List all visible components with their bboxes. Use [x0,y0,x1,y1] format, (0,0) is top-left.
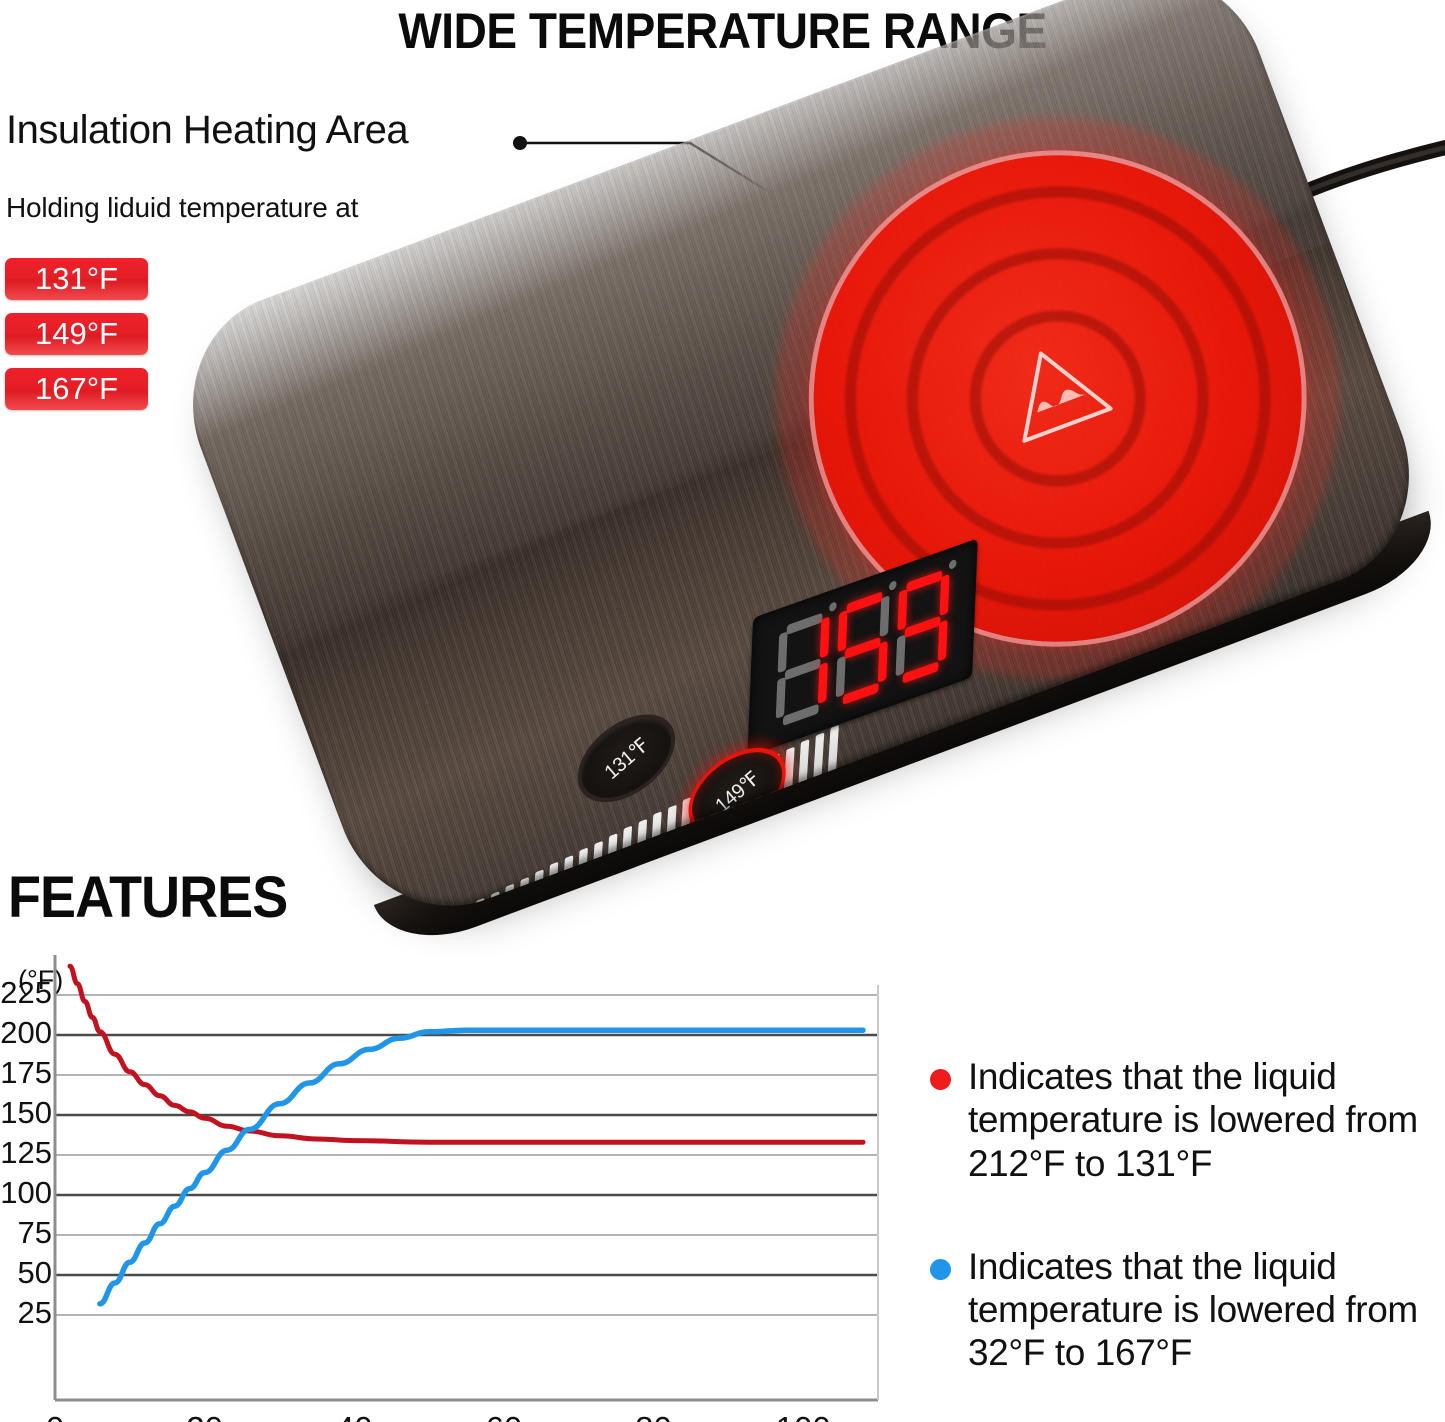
y-axis-tick-label: 175 [0,1055,52,1091]
legend-text-red: Indicates that the liquid temperature is… [968,1055,1430,1185]
product-image: 149 131℉ 149℉ 167℉ [0,60,1445,970]
features-heading: FEATURES [8,864,287,931]
y-axis-tick-label: 75 [0,1215,52,1251]
y-axis-tick-label: 225 [0,975,52,1011]
temperature-curve-chart: (°F) 255075100125150175200225 0204060801… [0,955,900,1422]
legend-item-red: Indicates that the liquid temperature is… [930,1055,1430,1185]
product-infographic: WIDE TEMPERATURE RANGE Insulation Heatin… [0,0,1445,1422]
y-axis-tick-label: 25 [0,1295,52,1331]
mug-warmer-device: 149 131℉ 149℉ 167℉ [160,0,1443,938]
chart-legend: Indicates that the liquid temperature is… [930,1055,1430,1422]
y-axis-tick-label: 200 [0,1015,52,1051]
legend-dot-blue [930,1259,951,1280]
temp-button-167-label: 167℉ [823,800,878,852]
chart-plot-area [0,955,900,1422]
legend-item-blue: Indicates that the liquid temperature is… [930,1245,1430,1375]
led-digit-3 [894,565,951,688]
x-axis-tick-label: 100 [773,1410,833,1422]
x-axis-tick-label: 80 [624,1410,684,1422]
y-axis-tick-label: 150 [0,1095,52,1131]
x-axis-tick-label: 60 [474,1410,534,1422]
led-digit-2 [834,586,891,709]
x-axis-tick-label: 20 [175,1410,235,1422]
y-axis-tick-label: 50 [0,1255,52,1291]
legend-text-blue: Indicates that the liquid temperature is… [968,1245,1430,1375]
temp-button-131-label: 131℉ [599,732,654,784]
y-axis-tick-label: 100 [0,1175,52,1211]
x-axis-tick-label: 40 [324,1410,384,1422]
led-digit-1 [774,607,831,730]
legend-dot-red [930,1069,951,1090]
y-axis-tick-label: 125 [0,1135,52,1171]
x-axis-tick-label: 0 [25,1410,85,1422]
